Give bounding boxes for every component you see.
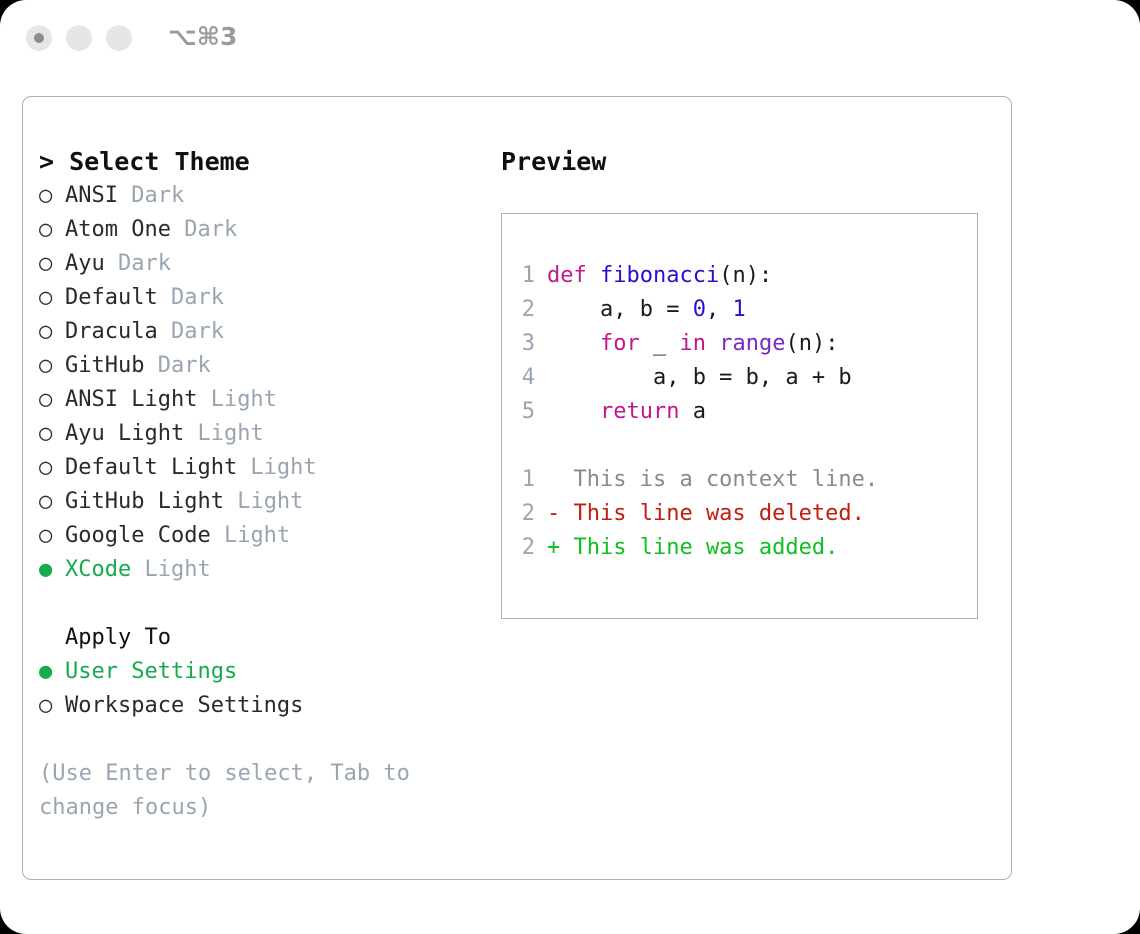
radio-unselected-icon: ○ bbox=[39, 451, 65, 485]
traffic-light-third-icon[interactable] bbox=[106, 25, 132, 51]
theme-option-kind: Dark bbox=[118, 183, 184, 208]
diff-line-text: - This line was deleted. bbox=[547, 501, 865, 526]
theme-option-name: Ayu bbox=[65, 251, 105, 276]
theme-option-name: Google Code bbox=[65, 523, 211, 548]
code-line: 1def fibonacci(n): bbox=[513, 259, 968, 293]
theme-option-kind: Dark bbox=[144, 353, 210, 378]
theme-option-name: ANSI bbox=[65, 183, 118, 208]
traffic-light-active-icon[interactable] bbox=[26, 25, 52, 51]
theme-option-kind: Dark bbox=[158, 319, 224, 344]
code-line-number: 2 bbox=[513, 293, 535, 327]
theme-option-name: ANSI Light bbox=[65, 387, 197, 412]
traffic-light-active-dot bbox=[34, 33, 44, 43]
code-token-pln: (n): bbox=[719, 263, 772, 288]
diff-line-number: 1 bbox=[513, 463, 535, 497]
radio-unselected-icon: ○ bbox=[39, 519, 65, 553]
apply-to-heading: Apply To bbox=[39, 621, 509, 655]
apply-to-options[interactable]: ●User Settings○Workspace Settings bbox=[39, 655, 509, 723]
theme-option-github[interactable]: ○GitHub Dark bbox=[39, 349, 509, 383]
code-token-kw: for bbox=[600, 331, 640, 356]
preview-heading: Preview bbox=[501, 145, 1001, 179]
code-token-pln: a, b = b, a + b bbox=[547, 365, 852, 390]
theme-option-name: Dracula bbox=[65, 319, 158, 344]
theme-option-ayu[interactable]: ○Ayu Dark bbox=[39, 247, 509, 281]
theme-option-kind: Light bbox=[131, 557, 210, 582]
radio-unselected-icon: ○ bbox=[39, 281, 65, 315]
radio-unselected-icon: ○ bbox=[39, 179, 65, 213]
diff-line-text: This is a context line. bbox=[547, 467, 878, 492]
preview-column: Preview 1def fibonacci(n):2 a, b = 0, 13… bbox=[501, 145, 1001, 619]
diff-line-number: 2 bbox=[513, 497, 535, 531]
code-line: 3 for _ in range(n): bbox=[513, 327, 968, 361]
theme-option-ayu-light[interactable]: ○Ayu Light Light bbox=[39, 417, 509, 451]
theme-option-kind: Dark bbox=[158, 285, 224, 310]
theme-option-atom-one[interactable]: ○Atom One Dark bbox=[39, 213, 509, 247]
theme-option-ansi-light[interactable]: ○ANSI Light Light bbox=[39, 383, 509, 417]
diff-line: 2- This line was deleted. bbox=[513, 497, 968, 531]
theme-option-kind: Light bbox=[184, 421, 263, 446]
radio-unselected-icon: ○ bbox=[39, 349, 65, 383]
diff-line-text: + This line was added. bbox=[547, 535, 838, 560]
theme-option-default-light[interactable]: ○Default Light Light bbox=[39, 451, 509, 485]
radio-unselected-icon: ○ bbox=[39, 247, 65, 281]
traffic-light-second-icon[interactable] bbox=[66, 25, 92, 51]
theme-option-name: GitHub Light bbox=[65, 489, 224, 514]
code-token-num: 0 bbox=[693, 297, 706, 322]
keyboard-shortcut-label: ⌥⌘3 bbox=[168, 22, 237, 51]
theme-option-xcode[interactable]: ●XCode Light bbox=[39, 553, 509, 587]
keyboard-hint-text: (Use Enter to select, Tab to change focu… bbox=[39, 757, 439, 825]
code-line-number: 1 bbox=[513, 259, 535, 293]
code-token-pln bbox=[547, 399, 600, 424]
theme-option-kind: Light bbox=[197, 387, 276, 412]
radio-unselected-icon: ○ bbox=[39, 383, 65, 417]
code-token-num: 1 bbox=[732, 297, 745, 322]
app-window: ⌥⌘3 > Select Theme ○ANSI Dark○Atom One D… bbox=[0, 0, 1140, 934]
code-token-kw: return bbox=[600, 399, 679, 424]
preview-box: 1def fibonacci(n):2 a, b = 0, 13 for _ i… bbox=[501, 213, 978, 619]
code-line-number: 4 bbox=[513, 361, 535, 395]
code-token-kw: in bbox=[679, 331, 706, 356]
theme-option-kind: Light bbox=[211, 523, 290, 548]
title-bar: ⌥⌘3 bbox=[0, 0, 1140, 78]
code-token-pln: (n): bbox=[785, 331, 838, 356]
diff-line-number: 2 bbox=[513, 531, 535, 565]
theme-option-google-code[interactable]: ○Google Code Light bbox=[39, 519, 509, 553]
radio-unselected-icon: ○ bbox=[39, 689, 65, 723]
code-token-pln: a, b = bbox=[547, 297, 693, 322]
code-token-pln: a bbox=[679, 399, 706, 424]
diff-line: 2+ This line was added. bbox=[513, 531, 968, 565]
theme-option-default[interactable]: ○Default Dark bbox=[39, 281, 509, 315]
radio-unselected-icon: ○ bbox=[39, 417, 65, 451]
code-diff-spacer bbox=[513, 429, 968, 463]
apply-to-option-workspace-settings[interactable]: ○Workspace Settings bbox=[39, 689, 509, 723]
main-panel: > Select Theme ○ANSI Dark○Atom One Dark○… bbox=[22, 96, 1012, 880]
apply-to-section: Apply To ●User Settings○Workspace Settin… bbox=[39, 621, 509, 723]
code-token-bi: range bbox=[719, 331, 785, 356]
code-line-number: 5 bbox=[513, 395, 535, 429]
theme-option-name: XCode bbox=[65, 557, 131, 582]
theme-option-name: Default Light bbox=[65, 455, 237, 480]
theme-option-name: GitHub bbox=[65, 353, 144, 378]
theme-option-kind: Light bbox=[224, 489, 303, 514]
radio-unselected-icon: ○ bbox=[39, 485, 65, 519]
code-sample: 1def fibonacci(n):2 a, b = 0, 13 for _ i… bbox=[513, 259, 968, 565]
apply-to-option-user-settings[interactable]: ●User Settings bbox=[39, 655, 509, 689]
theme-option-kind: Dark bbox=[105, 251, 171, 276]
code-token-fn: fibonacci bbox=[600, 263, 719, 288]
code-token-pln bbox=[587, 263, 600, 288]
theme-option-name: Atom One bbox=[65, 217, 171, 242]
radio-selected-icon: ● bbox=[39, 655, 65, 689]
code-token-pln: _ bbox=[640, 331, 680, 356]
code-line: 2 a, b = 0, 1 bbox=[513, 293, 968, 327]
code-token-pln bbox=[706, 331, 719, 356]
theme-option-github-light[interactable]: ○GitHub Light Light bbox=[39, 485, 509, 519]
theme-option-dracula[interactable]: ○Dracula Dark bbox=[39, 315, 509, 349]
code-line: 4 a, b = b, a + b bbox=[513, 361, 968, 395]
radio-selected-icon: ● bbox=[39, 553, 65, 587]
apply-to-option-label: Workspace Settings bbox=[65, 693, 303, 718]
radio-unselected-icon: ○ bbox=[39, 315, 65, 349]
code-token-pln: , bbox=[706, 297, 733, 322]
theme-option-ansi[interactable]: ○ANSI Dark bbox=[39, 179, 509, 213]
theme-list[interactable]: ○ANSI Dark○Atom One Dark○Ayu Dark○Defaul… bbox=[39, 179, 509, 587]
theme-option-kind: Dark bbox=[171, 217, 237, 242]
diff-line: 1 This is a context line. bbox=[513, 463, 968, 497]
theme-option-name: Ayu Light bbox=[65, 421, 184, 446]
code-line-number: 3 bbox=[513, 327, 535, 361]
code-line: 5 return a bbox=[513, 395, 968, 429]
theme-selection-column: > Select Theme ○ANSI Dark○Atom One Dark○… bbox=[39, 145, 509, 825]
theme-option-name: Default bbox=[65, 285, 158, 310]
theme-option-kind: Light bbox=[237, 455, 316, 480]
radio-unselected-icon: ○ bbox=[39, 213, 65, 247]
code-token-kw: def bbox=[547, 263, 587, 288]
code-token-pln bbox=[547, 331, 600, 356]
apply-to-option-label: User Settings bbox=[65, 659, 237, 684]
select-theme-heading: > Select Theme bbox=[39, 145, 509, 179]
